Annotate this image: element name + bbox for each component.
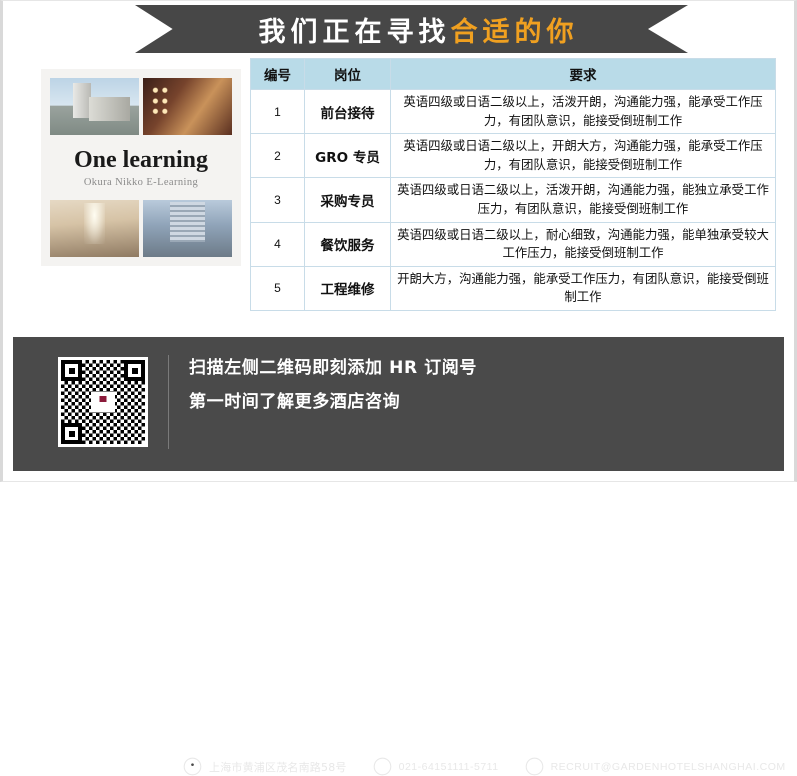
phone-icon	[373, 757, 392, 776]
qr-finder-top-right	[124, 360, 145, 381]
table-header-row: 编号 岗位 要求	[251, 59, 776, 90]
banner-text-orange: 合适的你	[451, 10, 579, 49]
cell-requirement: 英语四级或日语二级以上，活泼开朗，沟通能力强，能独立承受工作压力，有团队意识，能…	[391, 178, 776, 222]
qr-center-logo	[91, 392, 115, 412]
contact-phone-text: 021-64151111-5711	[399, 761, 499, 773]
photo-row-top	[50, 78, 232, 135]
table-row: 3 采购专员 英语四级或日语二级以上，活泼开朗，沟通能力强，能独立承受工作压力，…	[251, 178, 776, 222]
footer-contact-bar: 扫描左侧二维码即刻添加 HR 订阅号 第一时间了解更多酒店咨询 上海市黄浦区茂名…	[13, 337, 784, 471]
banner-inner: 我们正在寻找合适的你	[135, 5, 688, 53]
cell-position: 工程维修	[305, 266, 391, 310]
contact-row: 上海市黄浦区茂名南路58号 021-64151111-5711 RECRUIT@…	[183, 757, 783, 776]
cell-position: GRO 专员	[305, 134, 391, 178]
cell-no: 2	[251, 134, 305, 178]
cell-requirement: 开朗大方，沟通能力强，能承受工作压力，有团队意识，能接受倒班制工作	[391, 266, 776, 310]
table-row: 5 工程维修 开朗大方，沟通能力强，能承受工作压力，有团队意识，能接受倒班制工作	[251, 266, 776, 310]
footer-headings: 扫描左侧二维码即刻添加 HR 订阅号 第一时间了解更多酒店咨询	[189, 359, 749, 411]
banner-text: 我们正在寻找合适的你	[135, 5, 688, 53]
table-row: 1 前台接待 英语四级或日语二级以上，活泼开朗，沟通能力强，能承受工作压力，有团…	[251, 90, 776, 134]
cell-requirement: 英语四级或日语二级以上，开朗大方，沟通能力强，能承受工作压力，有团队意识，能接受…	[391, 134, 776, 178]
contact-address: 上海市黄浦区茂名南路58号	[183, 757, 347, 776]
photo-hotel-modern-tower-exterior	[143, 200, 232, 257]
contact-email: RECRUIT@GARDENHOTELSHANGHAI.COM	[525, 757, 786, 776]
column-header-position: 岗位	[305, 59, 391, 90]
contact-address-text: 上海市黄浦区茂名南路58号	[209, 759, 347, 775]
brand-text-block: One learning Okura Nikko E-Learning	[50, 145, 232, 190]
cell-position: 采购专员	[305, 178, 391, 222]
photo-hotel-atrium-lobby-interior	[50, 200, 139, 257]
job-listing-table: 编号 岗位 要求 1 前台接待 英语四级或日语二级以上，活泼开朗，沟通能力强，能…	[250, 58, 776, 311]
footer-line-2: 第一时间了解更多酒店咨询	[189, 393, 749, 412]
photo-hotel-tower-exterior-daytime	[50, 78, 139, 135]
photo-hotel-lobby-night-lights	[143, 78, 232, 135]
hr-subscription-qr-code	[61, 360, 145, 444]
table-row: 2 GRO 专员 英语四级或日语二级以上，开朗大方，沟通能力强，能承受工作压力，…	[251, 134, 776, 178]
column-header-requirement: 要求	[391, 59, 776, 90]
cell-requirement: 英语四级或日语二级以上，活泼开朗，沟通能力强，能承受工作压力，有团队意识，能接受…	[391, 90, 776, 134]
cell-position: 前台接待	[305, 90, 391, 134]
footer-vertical-divider	[168, 355, 169, 449]
brand-subtitle: Okura Nikko E-Learning	[50, 177, 232, 188]
qr-finder-bottom-left	[61, 423, 82, 444]
brand-title: One learning	[50, 147, 232, 173]
banner-text-white: 我们正在寻找	[259, 10, 451, 49]
cell-requirement: 英语四级或日语二级以上，耐心细致，沟通能力强，能单独承受较大工作压力，能接受倒班…	[391, 222, 776, 266]
brand-image-card: One learning Okura Nikko E-Learning	[41, 69, 241, 266]
qr-code-container	[58, 357, 148, 447]
location-pin-icon	[183, 757, 202, 776]
recruitment-poster: 我们正在寻找合适的你 One learning Okura Nikko E-Le…	[0, 0, 797, 482]
photo-row-bottom	[50, 200, 232, 257]
headline-banner: 我们正在寻找合适的你	[135, 5, 688, 53]
qr-finder-top-left	[61, 360, 82, 381]
column-header-no: 编号	[251, 59, 305, 90]
table-row: 4 餐饮服务 英语四级或日语二级以上，耐心细致，沟通能力强，能单独承受较大工作压…	[251, 222, 776, 266]
footer-line-1: 扫描左侧二维码即刻添加 HR 订阅号	[189, 359, 749, 378]
contact-phone: 021-64151111-5711	[373, 757, 499, 776]
cell-position: 餐饮服务	[305, 222, 391, 266]
link-icon	[525, 757, 544, 776]
contact-email-text: RECRUIT@GARDENHOTELSHANGHAI.COM	[551, 761, 786, 773]
cell-no: 1	[251, 90, 305, 134]
cell-no: 4	[251, 222, 305, 266]
cell-no: 5	[251, 266, 305, 310]
cell-no: 3	[251, 178, 305, 222]
